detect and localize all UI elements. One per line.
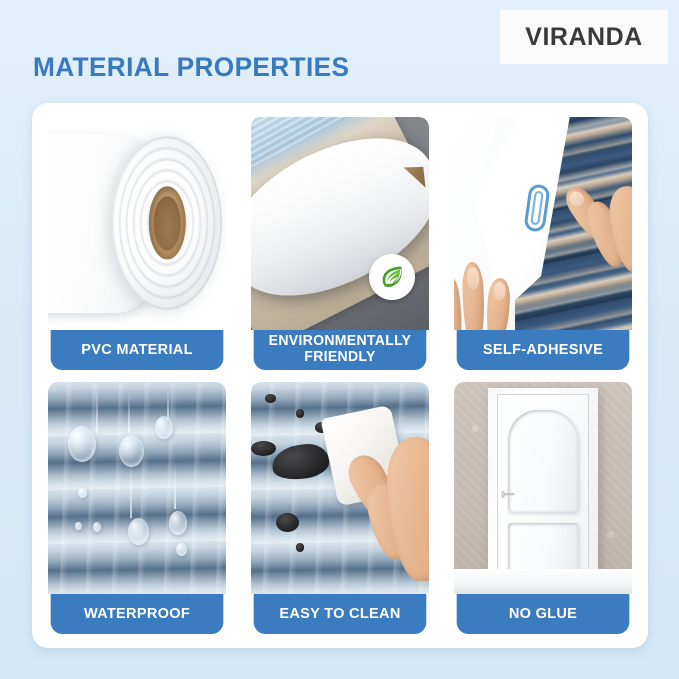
finger (461, 262, 485, 329)
brand-logo-box: VIRANDA (500, 10, 668, 64)
cleaning-hand (354, 428, 429, 581)
fingernail (492, 282, 506, 301)
feature-label-waterproof: WATERPROOF (51, 594, 224, 634)
feature-image-no-glue (454, 382, 632, 595)
feature-image-self-adhesive (454, 117, 632, 330)
water-trail (130, 458, 132, 518)
water-trail (167, 386, 169, 420)
dark-stain (251, 441, 276, 456)
page-title: MATERIAL PROPERTIES (33, 52, 349, 83)
pvc-core-hole (154, 196, 180, 250)
feature-label-easy-to-clean: EASY TO CLEAN (254, 594, 427, 634)
pvc-roll-illustration (48, 117, 226, 330)
door-slab (497, 394, 590, 580)
feature-image-waterproof (48, 382, 226, 595)
feature-label-environmentally-friendly: ENVIRONMENTALLY FRIENDLY (254, 330, 427, 370)
feature-card-easy-to-clean[interactable]: EASY TO CLEAN (251, 382, 429, 635)
pvc-roll-shape (112, 136, 222, 310)
fingernail (466, 267, 479, 289)
feature-card-no-glue[interactable]: NO GLUE (454, 382, 632, 635)
dark-stain (296, 543, 305, 552)
fingernail (566, 189, 586, 210)
water-droplet (75, 522, 82, 531)
water-droplet (176, 543, 187, 556)
water-droplet (68, 426, 96, 462)
leaf-badge (369, 254, 415, 300)
door-frame (488, 388, 598, 579)
water-trail (174, 462, 176, 509)
feature-card-pvc-material[interactable]: PVC MATERIAL (48, 117, 226, 370)
feature-image-easy-to-clean (251, 382, 429, 595)
feature-image-environmentally-friendly (251, 117, 429, 330)
dark-stain (296, 409, 305, 418)
self-adhesive-illustration (454, 117, 632, 330)
baseboard (454, 569, 632, 595)
water-trail (96, 386, 98, 433)
feature-image-pvc-material (48, 117, 226, 330)
eco-roll-illustration (251, 117, 429, 330)
leaf-icon (378, 263, 406, 291)
water-droplet (119, 435, 144, 467)
feature-card-self-adhesive[interactable]: SELF-ADHESIVE (454, 117, 632, 370)
feature-card-environmentally-friendly[interactable]: ENVIRONMENTALLY FRIENDLY (251, 117, 429, 370)
feature-label-self-adhesive: SELF-ADHESIVE (457, 330, 630, 370)
feature-label-no-glue: NO GLUE (457, 594, 630, 634)
door-handle-icon (501, 486, 516, 503)
water-droplet (169, 511, 187, 534)
palm (384, 436, 429, 584)
water-trail (128, 390, 130, 433)
features-panel: PVC MATERIAL ENVIRONMENTALLY FRIENDL (32, 103, 648, 648)
door-arched-panel (508, 410, 578, 512)
feature-label-pvc-material: PVC MATERIAL (51, 330, 224, 370)
features-grid: PVC MATERIAL ENVIRONMENTALLY FRIENDL (48, 117, 632, 634)
finger (484, 277, 511, 329)
water-droplet (155, 416, 173, 439)
right-hand (571, 177, 632, 275)
brand-logo-text: VIRANDA (525, 23, 642, 52)
left-hand (454, 249, 522, 330)
dark-stain (265, 394, 276, 403)
feature-card-waterproof[interactable]: WATERPROOF (48, 382, 226, 635)
blue-wood-texture (48, 382, 226, 595)
room-interior-illustration (454, 382, 632, 595)
